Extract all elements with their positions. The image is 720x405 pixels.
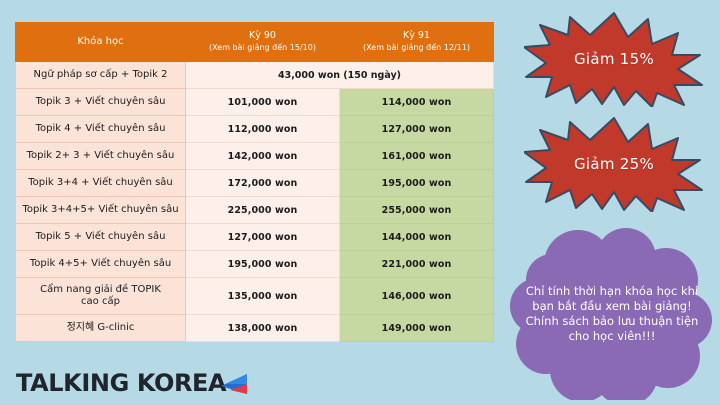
discount-badge-25-label: Giảm 25% bbox=[524, 155, 704, 173]
course-name: 정지혜 G-clinic bbox=[16, 315, 186, 342]
course-name: Ngữ pháp sơ cấp + Topik 2 bbox=[16, 62, 186, 89]
price-k91: 221,000 won bbox=[340, 251, 494, 278]
price-k90: 195,000 won bbox=[186, 251, 340, 278]
table-row: Topik 3+4+5+ Viết chuyên sâu225,000 won2… bbox=[16, 197, 494, 224]
table-row: Topik 5 + Viết chuyên sâu127,000 won144,… bbox=[16, 224, 494, 251]
price-k90: 225,000 won bbox=[186, 197, 340, 224]
table-row: Topik 3+4 + Viết chuyên sâu172,000 won19… bbox=[16, 170, 494, 197]
price-k91: 114,000 won bbox=[340, 89, 494, 116]
discount-badge-15-label: Giảm 15% bbox=[524, 50, 704, 68]
course-name: Cẩm nang giải đề TOPIKcao cấp bbox=[16, 278, 186, 315]
pricing-table: Khóa học Kỳ 90 (Xem bài giảng đến 15/10)… bbox=[15, 22, 494, 342]
table-header-row: Khóa học Kỳ 90 (Xem bài giảng đến 15/10)… bbox=[16, 23, 494, 62]
policy-cloud-callout: Chỉ tính thời hạn khóa học khi bạn bắt đ… bbox=[508, 228, 716, 400]
play-triangle-icon bbox=[221, 373, 247, 395]
price-k90: 142,000 won bbox=[186, 143, 340, 170]
table-row-merged: Ngữ pháp sơ cấp + Topik 2 43,000 won (15… bbox=[16, 62, 494, 89]
k91-term-label: Kỳ 91 bbox=[342, 30, 491, 42]
course-name: Topik 2+ 3 + Viết chuyên sâu bbox=[16, 143, 186, 170]
table-body: Ngữ pháp sơ cấp + Topik 2 43,000 won (15… bbox=[16, 62, 494, 342]
table-row: Topik 3 + Viết chuyên sâu101,000 won114,… bbox=[16, 89, 494, 116]
policy-cloud-text: Chỉ tính thời hạn khóa học khi bạn bắt đ… bbox=[524, 284, 700, 344]
column-header-k91: Kỳ 91 (Xem bài giảng đến 12/11) bbox=[340, 23, 494, 62]
price-k91: 149,000 won bbox=[340, 315, 494, 342]
k90-term-label: Kỳ 90 bbox=[188, 30, 337, 42]
price-k90: 101,000 won bbox=[186, 89, 340, 116]
column-header-course: Khóa học bbox=[16, 23, 186, 62]
price-k90: 172,000 won bbox=[186, 170, 340, 197]
course-name: Topik 5 + Viết chuyên sâu bbox=[16, 224, 186, 251]
table-row: Topik 4+5+ Viết chuyên sâu195,000 won221… bbox=[16, 251, 494, 278]
course-name: Topik 3 + Viết chuyên sâu bbox=[16, 89, 186, 116]
merged-price: 43,000 won (150 ngày) bbox=[186, 62, 494, 89]
price-k91: 195,000 won bbox=[340, 170, 494, 197]
k90-term-note: (Xem bài giảng đến 15/10) bbox=[188, 42, 337, 54]
price-k91: 127,000 won bbox=[340, 116, 494, 143]
price-k91: 144,000 won bbox=[340, 224, 494, 251]
table-row: 정지혜 G-clinic138,000 won149,000 won bbox=[16, 315, 494, 342]
brand-logo: TALKING KOREA bbox=[16, 369, 247, 397]
price-k90: 127,000 won bbox=[186, 224, 340, 251]
price-k91: 161,000 won bbox=[340, 143, 494, 170]
column-header-k90: Kỳ 90 (Xem bài giảng đến 15/10) bbox=[186, 23, 340, 62]
discount-badge-15: Giảm 15% bbox=[524, 11, 704, 107]
table-header: Khóa học Kỳ 90 (Xem bài giảng đến 15/10)… bbox=[16, 23, 494, 62]
price-k90: 135,000 won bbox=[186, 278, 340, 315]
table-row: Topik 2+ 3 + Viết chuyên sâu142,000 won1… bbox=[16, 143, 494, 170]
k91-term-note: (Xem bài giảng đến 12/11) bbox=[342, 42, 491, 54]
table-row: Topik 4 + Viết chuyên sâu112,000 won127,… bbox=[16, 116, 494, 143]
price-k90: 138,000 won bbox=[186, 315, 340, 342]
course-name: Topik 3+4 + Viết chuyên sâu bbox=[16, 170, 186, 197]
course-name: Topik 4+5+ Viết chuyên sâu bbox=[16, 251, 186, 278]
brand-logo-text: TALKING KOREA bbox=[16, 369, 226, 397]
price-k90: 112,000 won bbox=[186, 116, 340, 143]
course-name: Topik 3+4+5+ Viết chuyên sâu bbox=[16, 197, 186, 224]
discount-badge-25: Giảm 25% bbox=[524, 116, 704, 212]
slide-canvas: Khóa học Kỳ 90 (Xem bài giảng đến 15/10)… bbox=[0, 0, 720, 405]
table-row: Cẩm nang giải đề TOPIKcao cấp135,000 won… bbox=[16, 278, 494, 315]
price-k91: 255,000 won bbox=[340, 197, 494, 224]
price-k91: 146,000 won bbox=[340, 278, 494, 315]
course-name: Topik 4 + Viết chuyên sâu bbox=[16, 116, 186, 143]
